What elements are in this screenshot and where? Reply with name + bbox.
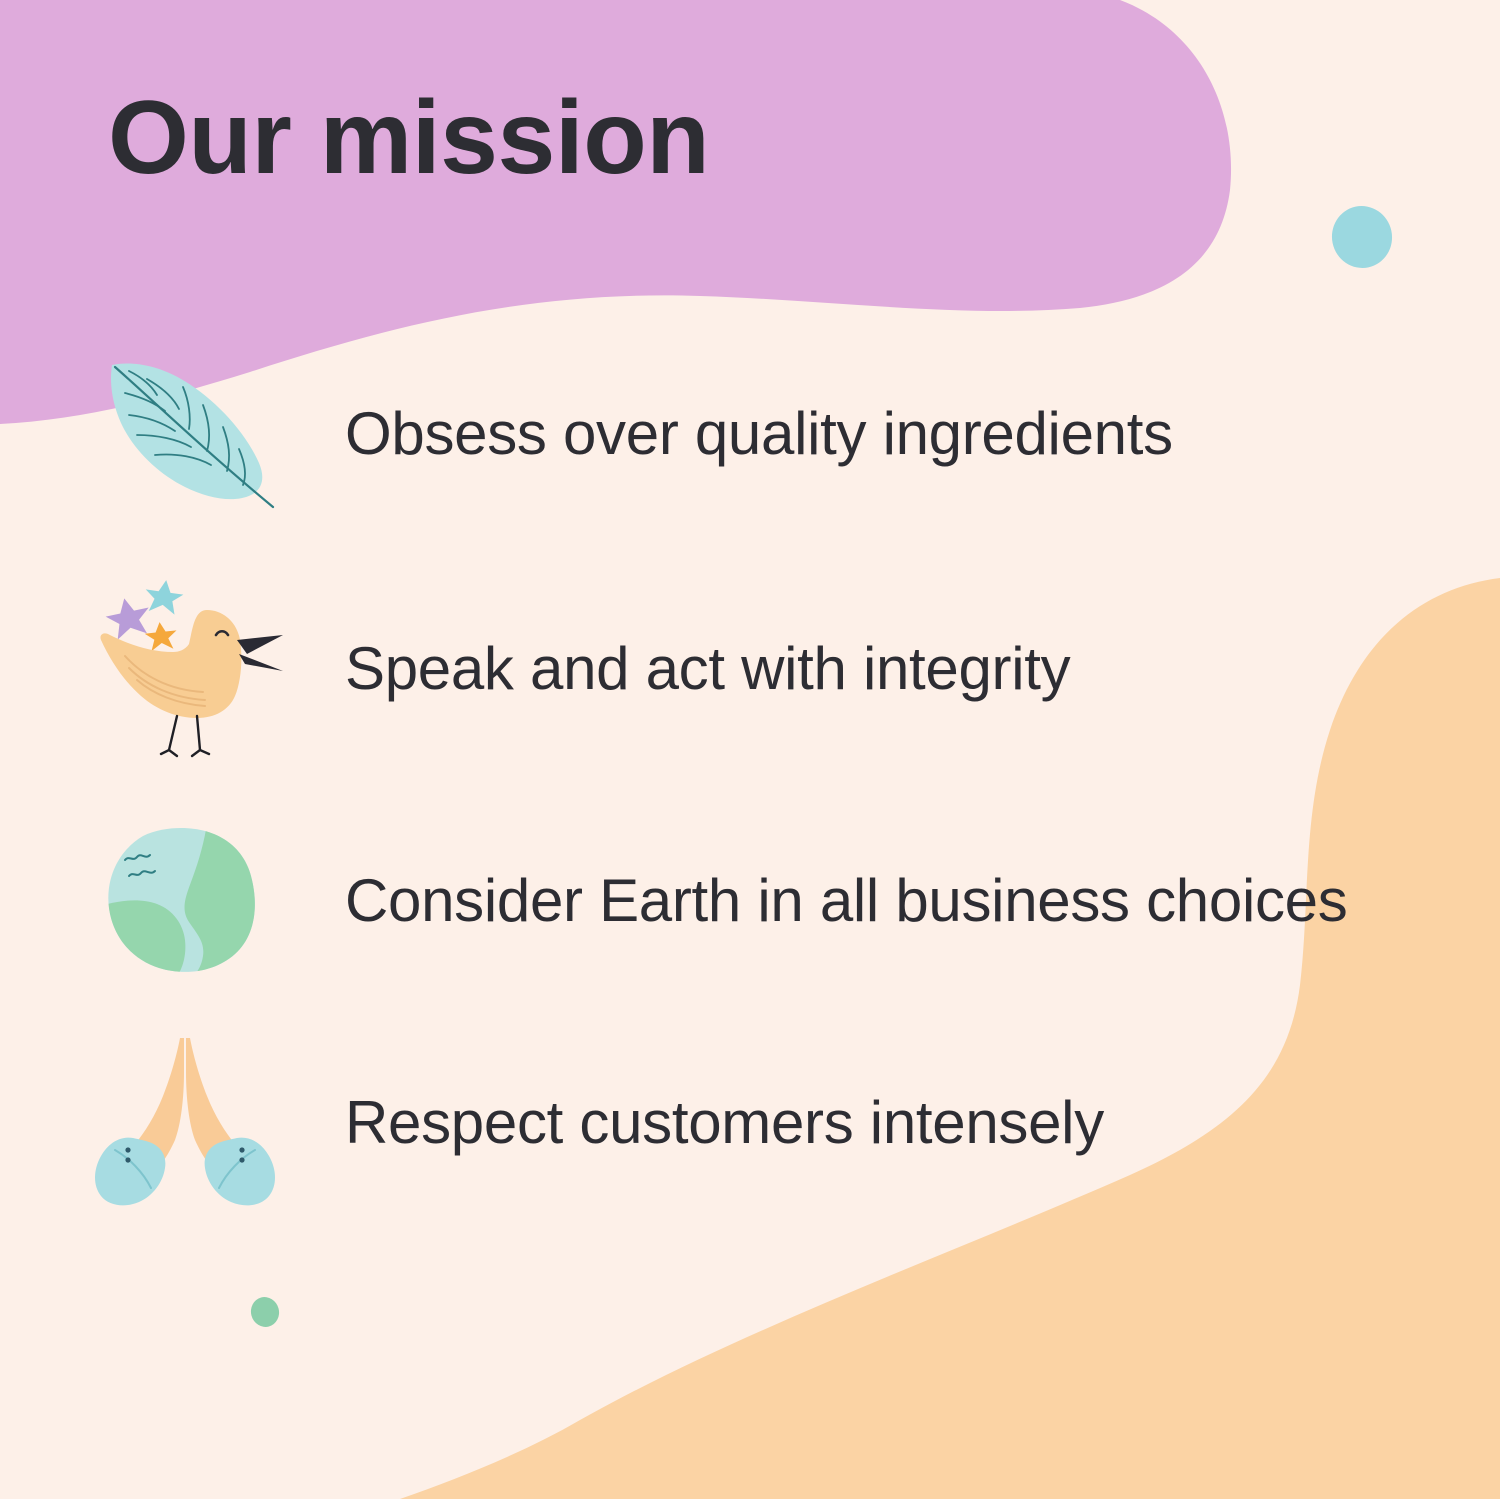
page-title: Our mission: [108, 86, 709, 190]
mission-value-label: Respect customers intensely: [345, 1032, 1104, 1212]
mission-value-row: Respect customers intensely: [0, 1032, 1500, 1212]
mission-value-label: Speak and act with integrity: [345, 578, 1070, 758]
right-sleeve-cuff: [205, 1138, 275, 1206]
mission-value-label: Obsess over quality ingredients: [345, 343, 1173, 523]
leaf-icon: [85, 343, 285, 523]
praying-hands-icon: [85, 1032, 285, 1212]
bird-icon: [85, 578, 285, 758]
mission-value-label: Consider Earth in all business choices: [345, 810, 1347, 990]
our-mission-poster: Our mission: [0, 0, 1500, 1499]
earth-globe-icon: [85, 810, 285, 990]
mission-value-row: Consider Earth in all business choices: [0, 810, 1500, 990]
mission-value-row: Obsess over quality ingredients: [0, 343, 1500, 523]
mission-value-row: Speak and act with integrity: [0, 578, 1500, 758]
left-sleeve-cuff: [95, 1138, 165, 1206]
